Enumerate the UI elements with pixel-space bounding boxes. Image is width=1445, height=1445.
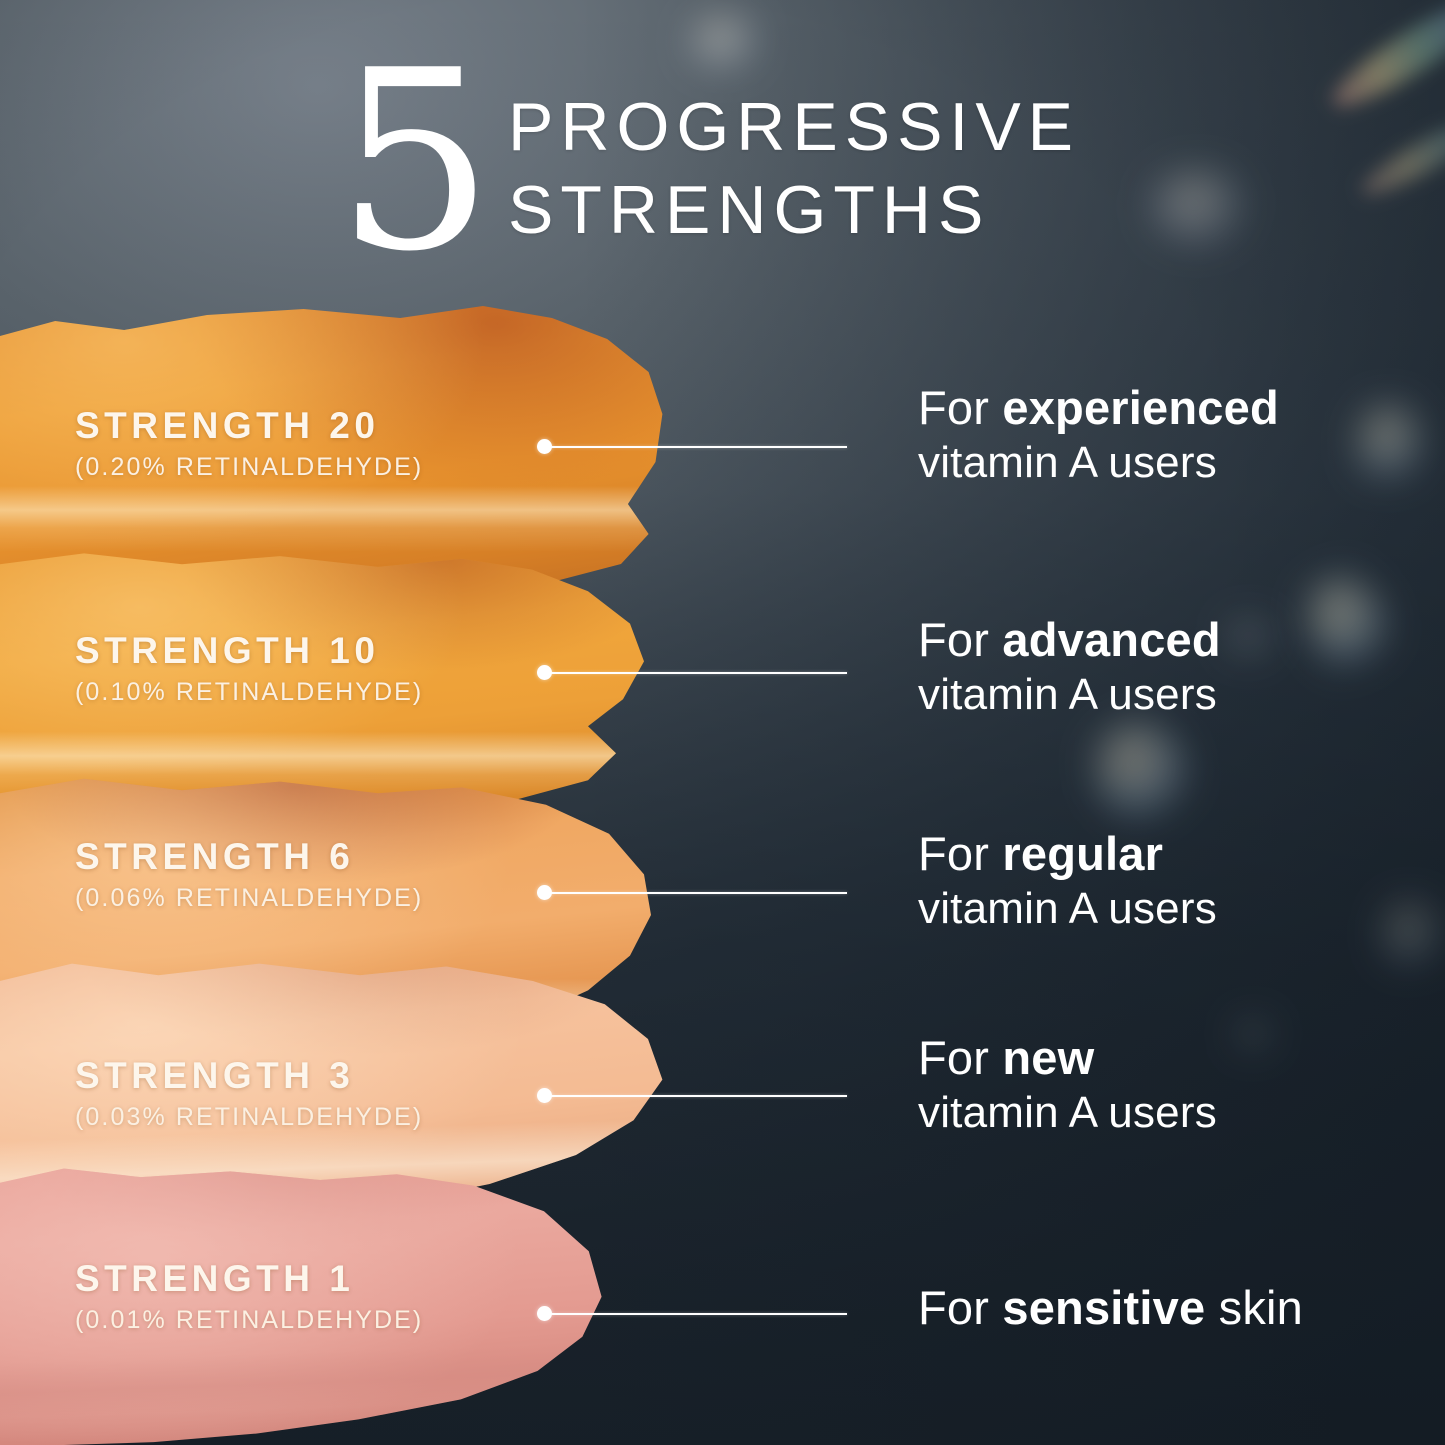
description-strength-3: For new vitamin A users: [918, 1032, 1217, 1139]
bokeh-orb: [1358, 404, 1420, 484]
description-line-2: vitamin A users: [918, 669, 1221, 722]
description-prefix: For: [918, 1031, 989, 1084]
description-prefix: For: [918, 827, 989, 880]
description-strength-20: For experienced vitamin A users: [918, 382, 1279, 489]
description-line-2: vitamin A users: [918, 1087, 1217, 1140]
description-emphasis: advanced: [1002, 613, 1220, 666]
description-prefix: For: [918, 613, 989, 666]
description-suffix: skin: [1205, 1281, 1303, 1334]
bokeh-orb: [1224, 616, 1276, 660]
description-prefix: For: [918, 381, 989, 434]
headline-number: 5: [336, 38, 488, 286]
description-strength-6: For regular vitamin A users: [918, 828, 1217, 935]
bokeh-orb: [1382, 900, 1438, 970]
bokeh-orb: [1081, 709, 1200, 835]
description-line-2: vitamin A users: [918, 437, 1279, 490]
description-strength-1: For sensitive skin: [918, 1282, 1303, 1337]
description-line-1: For advanced: [918, 614, 1221, 667]
prism-streak-icon: [1322, 0, 1445, 121]
description-line-1: For regular: [918, 828, 1217, 881]
bokeh-orb: [1150, 170, 1246, 244]
bokeh-orb: [1232, 1016, 1276, 1054]
description-emphasis: experienced: [1002, 381, 1279, 434]
description-line-1: For sensitive skin: [918, 1282, 1303, 1335]
bokeh-orb: [690, 16, 760, 68]
swatch-highlight: [0, 1160, 640, 1445]
description-strength-10: For advanced vitamin A users: [918, 614, 1221, 721]
description-line-2: vitamin A users: [918, 883, 1217, 936]
description-emphasis: new: [1002, 1031, 1094, 1084]
cream-swatch-stack: [0, 300, 760, 1445]
headline-text: PROGRESSIVE STRENGTHS: [508, 86, 1080, 252]
promo-graphic: 5 PROGRESSIVE STRENGTHS: [0, 0, 1445, 1445]
bokeh-orb: [1296, 566, 1399, 682]
description-emphasis: regular: [1002, 827, 1163, 880]
description-prefix: For: [918, 1281, 989, 1334]
description-line-1: For experienced: [918, 382, 1279, 435]
swatch-strength-1: [0, 1160, 640, 1445]
description-line-1: For new: [918, 1032, 1217, 1085]
prism-streak-icon: [1355, 105, 1445, 206]
description-emphasis: sensitive: [1002, 1281, 1205, 1334]
